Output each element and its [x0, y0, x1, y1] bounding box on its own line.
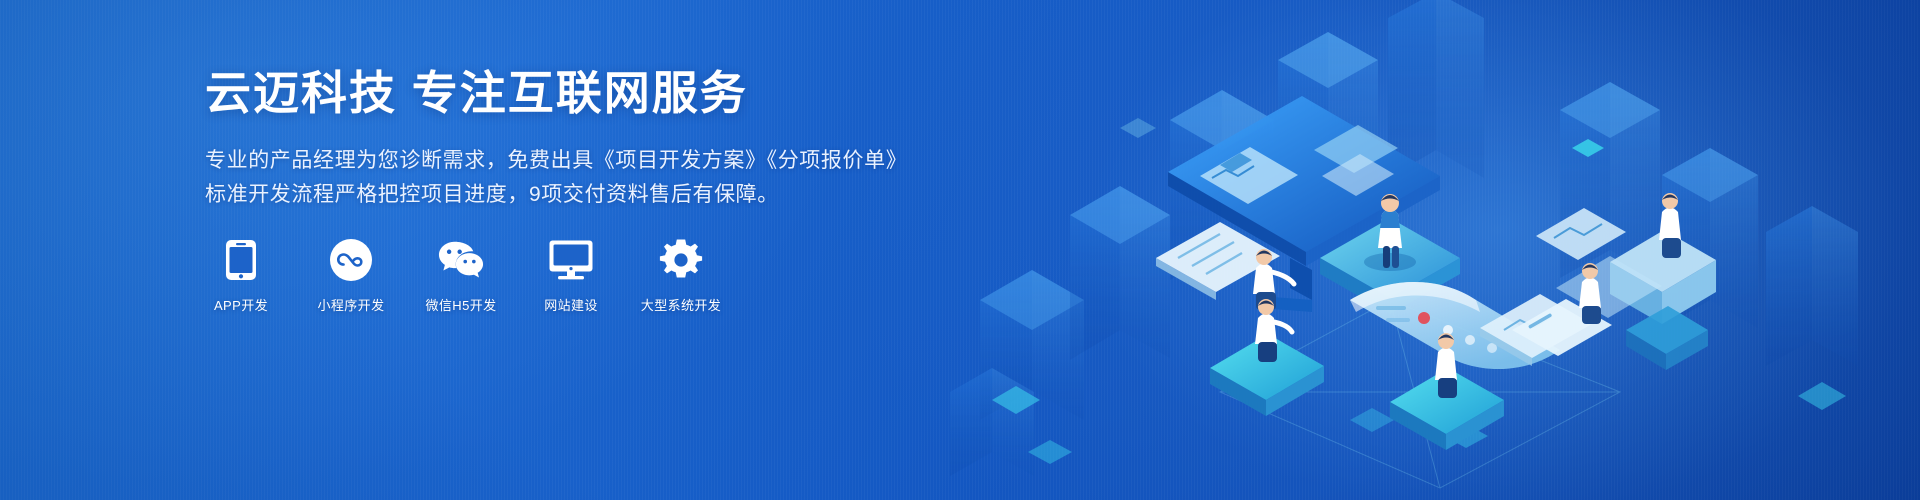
- service-item-large-system[interactable]: 大型系统开发: [645, 237, 717, 314]
- service-item-mini-program[interactable]: 小程序开发: [315, 237, 387, 314]
- monitor-icon: [548, 237, 594, 283]
- subtitle-line-1: 专业的产品经理为您诊断需求，免费出具《项目开发方案》《分项报价单》: [205, 144, 905, 178]
- mini-program-icon: [328, 237, 374, 283]
- service-label-website: 网站建设: [544, 295, 598, 314]
- wechat-icon: [438, 237, 484, 283]
- gear-icon: [658, 237, 704, 283]
- hero-subtitle: 专业的产品经理为您诊断需求，免费出具《项目开发方案》《分项报价单》 标准开发流程…: [205, 144, 905, 212]
- hero-banner: 云迈科技 专注互联网服务 专业的产品经理为您诊断需求，免费出具《项目开发方案》《…: [0, 0, 1920, 500]
- service-label-mini-program: 小程序开发: [317, 295, 384, 314]
- service-label-app: APP开发: [214, 295, 268, 314]
- hero-copy: 云迈科技 专注互联网服务 专业的产品经理为您诊断需求，免费出具《项目开发方案》《…: [205, 66, 905, 212]
- mobile-phone-icon: [218, 237, 264, 283]
- isometric-illustration: [920, 0, 1920, 500]
- service-item-website[interactable]: 网站建设: [535, 237, 607, 314]
- service-label-large-system: 大型系统开发: [641, 295, 721, 314]
- page-title: 云迈科技 专注互联网服务: [205, 66, 905, 120]
- service-list: APP开发 小程序开发 微信: [205, 237, 717, 314]
- service-label-wechat-h5: 微信H5开发: [425, 295, 496, 314]
- subtitle-line-2: 标准开发流程严格把控项目进度，9项交付资料售后有保障。: [205, 178, 905, 212]
- service-item-wechat-h5[interactable]: 微信H5开发: [425, 237, 497, 314]
- service-item-app[interactable]: APP开发: [205, 237, 277, 314]
